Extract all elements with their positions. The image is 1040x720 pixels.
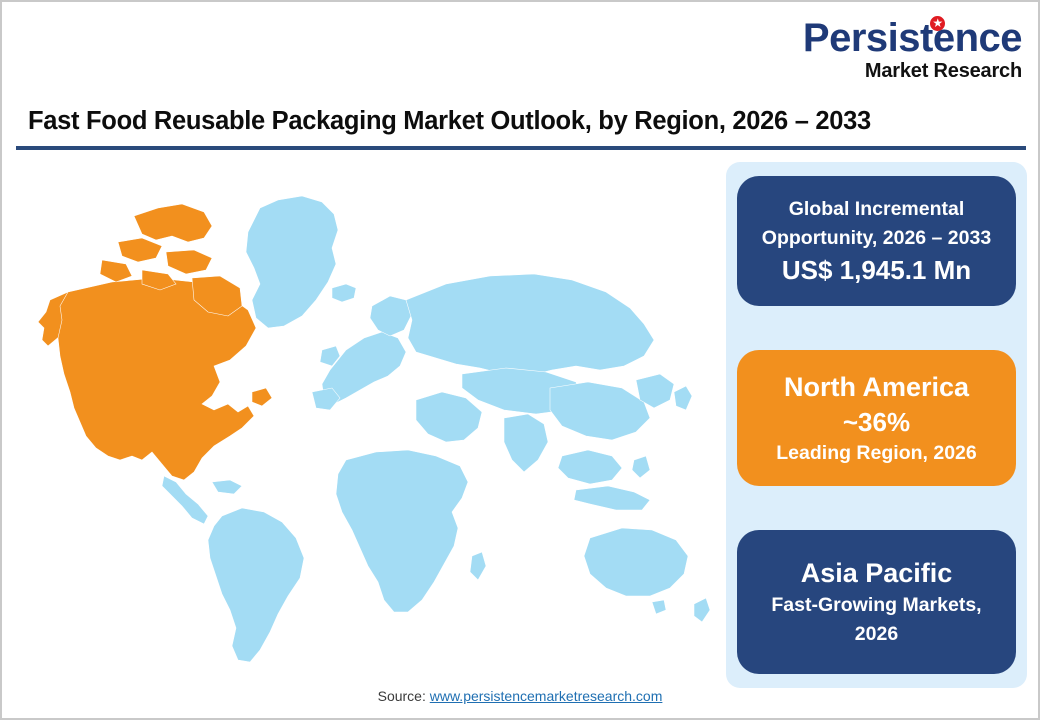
north-america-caption: Leading Region, 2026 [776, 439, 976, 468]
asia-pacific-region: Asia Pacific [801, 555, 953, 591]
asia-pacific-caption-line1: Fast-Growing Markets, [771, 591, 981, 620]
map-region-newfoundland [252, 388, 272, 406]
north-america-region: North America [784, 369, 969, 405]
asia-pacific-caption-line2: 2026 [855, 620, 898, 649]
map-region-arctic-islands-1 [134, 204, 212, 242]
map-region-central-america [162, 476, 208, 524]
map-region-caribbean [212, 480, 242, 494]
star-badge-icon: ★ [930, 16, 945, 31]
global-opportunity-line2: Opportunity, 2026 – 2033 [762, 224, 991, 253]
map-region-tasmania [652, 600, 666, 614]
source-line: Source: www.persistencemarketresearch.co… [2, 688, 1038, 704]
infographic-page: Persistence ★ Market Research Fast Food … [0, 0, 1040, 720]
page-title: Fast Food Reusable Packaging Market Outl… [28, 107, 1008, 136]
map-region-iceland [332, 284, 356, 302]
world-map-svg [16, 160, 716, 670]
brand-name: Persistence ★ [798, 16, 1022, 60]
map-region-madagascar [470, 552, 486, 580]
map-region-arctic-islands-3 [166, 250, 212, 274]
stat-card-global-incremental-opportunity[interactable]: Global Incremental Opportunity, 2026 – 2… [737, 176, 1016, 306]
map-region-arctic-islands-4 [100, 260, 132, 282]
global-opportunity-line1: Global Incremental [789, 195, 965, 224]
stat-card-north-america[interactable]: North America ~36% Leading Region, 2026 [737, 350, 1016, 486]
north-america-share: ~36% [843, 405, 910, 439]
title-divider [16, 146, 1026, 150]
map-region-south-america [208, 508, 304, 662]
map-region-southeast-asia [558, 450, 622, 484]
map-region-greenland [246, 196, 338, 328]
stat-card-asia-pacific[interactable]: Asia Pacific Fast-Growing Markets, 2026 [737, 530, 1016, 674]
map-region-australia [584, 528, 688, 596]
map-region-indonesia [574, 486, 650, 510]
map-region-japan [674, 386, 692, 410]
map-region-russia-asia [406, 274, 654, 376]
map-region-india [504, 414, 548, 472]
source-label: Source: [378, 688, 430, 704]
source-link[interactable]: www.persistencemarketresearch.com [430, 688, 663, 704]
map-region-middle-east [416, 392, 482, 442]
map-region-arctic-islands-2 [118, 238, 162, 262]
brand-logo: Persistence ★ Market Research [798, 16, 1022, 82]
brand-tagline: Market Research [798, 60, 1022, 82]
map-region-new-zealand [694, 598, 710, 622]
map-region-china [550, 382, 650, 440]
map-region-philippines [632, 456, 650, 478]
map-region-scandinavia [370, 296, 412, 336]
world-map [16, 160, 716, 670]
stats-panel: Global Incremental Opportunity, 2026 – 2… [726, 162, 1027, 688]
global-opportunity-value: US$ 1,945.1 Mn [782, 253, 971, 287]
brand-name-text: Persistence [803, 16, 1022, 60]
map-region-africa [336, 450, 468, 612]
